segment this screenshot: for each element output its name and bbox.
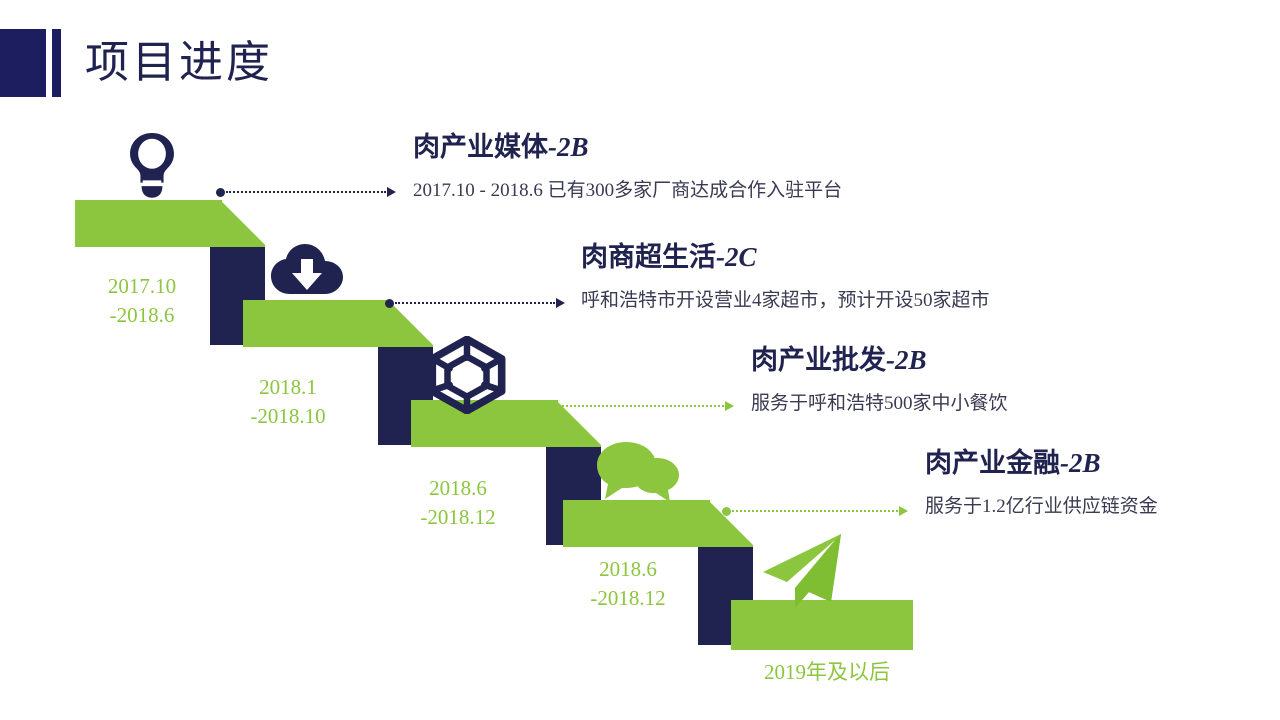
step-date-3-line1: 2018.6	[388, 474, 528, 503]
milestone-title-3-suffix: -2B	[886, 345, 927, 375]
cloud-download-icon	[270, 242, 344, 300]
connector-dot-2	[385, 299, 394, 308]
milestone-item-4: 肉产业金融-2B 服务于1.2亿行业供应链资金	[925, 447, 1158, 519]
milestone-title-2-suffix: -2C	[716, 242, 757, 272]
step-date-5-line1: 2019年及以后	[742, 658, 912, 687]
cube-outline-icon	[428, 336, 506, 414]
connector-line-1	[216, 186, 396, 198]
step-date-3: 2018.6 -2018.12	[388, 474, 528, 532]
milestone-title-2-main: 肉商超生活	[581, 242, 716, 272]
milestone-desc-1: 2017.10 - 2018.6 已有300多家厂商达成合作入驻平台	[413, 179, 842, 204]
title-accent-bar	[52, 29, 61, 97]
connector-dot-4	[722, 507, 731, 516]
milestone-title-4-suffix: -2B	[1060, 448, 1101, 478]
connector-dash-3	[558, 405, 724, 407]
connector-arrow-3	[725, 401, 734, 411]
milestone-item-1: 肉产业媒体-2B 2017.10 - 2018.6 已有300多家厂商达成合作入…	[413, 131, 842, 203]
connector-dash-4	[732, 510, 898, 512]
step-date-5: 2019年及以后	[742, 658, 912, 687]
milestone-item-3: 肉产业批发-2B 服务于呼和浩特500家中小餐饮	[751, 344, 1008, 416]
step-date-1-line1: 2017.10	[72, 272, 212, 301]
step-date-4: 2018.6 -2018.12	[558, 555, 698, 613]
milestone-desc-4: 服务于1.2亿行业供应链资金	[925, 495, 1158, 520]
milestone-item-2: 肉商超生活-2C 呼和浩特市开设营业4家超市，预计开设50家超市	[581, 241, 990, 313]
step-date-2: 2018.1 -2018.10	[218, 373, 358, 431]
step-date-4-line2: -2018.12	[558, 584, 698, 613]
connector-dot-3	[548, 402, 557, 411]
milestone-title-3-main: 肉产业批发	[751, 345, 886, 375]
page-title: 项目进度	[85, 41, 273, 85]
connector-line-3	[548, 400, 734, 412]
connector-arrow-2	[556, 298, 565, 308]
connector-dash-1	[226, 191, 386, 193]
connector-line-4	[722, 505, 908, 517]
milestone-title-1-suffix: -2B	[548, 132, 589, 162]
connector-dot-1	[216, 188, 225, 197]
step-date-4-line1: 2018.6	[558, 555, 698, 584]
connector-arrow-1	[387, 187, 396, 197]
milestone-desc-2: 呼和浩特市开设营业4家超市，预计开设50家超市	[581, 289, 990, 314]
connector-dash-2	[395, 302, 555, 304]
title-accent-square	[0, 29, 46, 97]
milestone-title-1-main: 肉产业媒体	[413, 132, 548, 162]
page-title-block: 项目进度	[0, 29, 273, 97]
step-date-2-line1: 2018.1	[218, 373, 358, 402]
milestone-title-1: 肉产业媒体-2B	[413, 131, 842, 165]
step-date-2-line2: -2018.10	[218, 402, 358, 431]
milestone-title-4-main: 肉产业金融	[925, 448, 1060, 478]
milestone-desc-3: 服务于呼和浩特500家中小餐饮	[751, 392, 1008, 417]
speech-bubbles-icon	[597, 440, 679, 506]
step-date-3-line2: -2018.12	[388, 503, 528, 532]
milestone-title-2: 肉商超生活-2C	[581, 241, 990, 275]
lightbulb-icon	[115, 126, 189, 200]
connector-arrow-4	[899, 506, 908, 516]
slide-canvas: 项目进度	[0, 0, 1280, 720]
paper-plane-icon	[757, 532, 843, 612]
connector-line-2	[385, 297, 565, 309]
step-date-1: 2017.10 -2018.6	[72, 272, 212, 330]
step-date-1-line2: -2018.6	[72, 301, 212, 330]
milestone-title-4: 肉产业金融-2B	[925, 447, 1158, 481]
milestone-title-3: 肉产业批发-2B	[751, 344, 1008, 378]
